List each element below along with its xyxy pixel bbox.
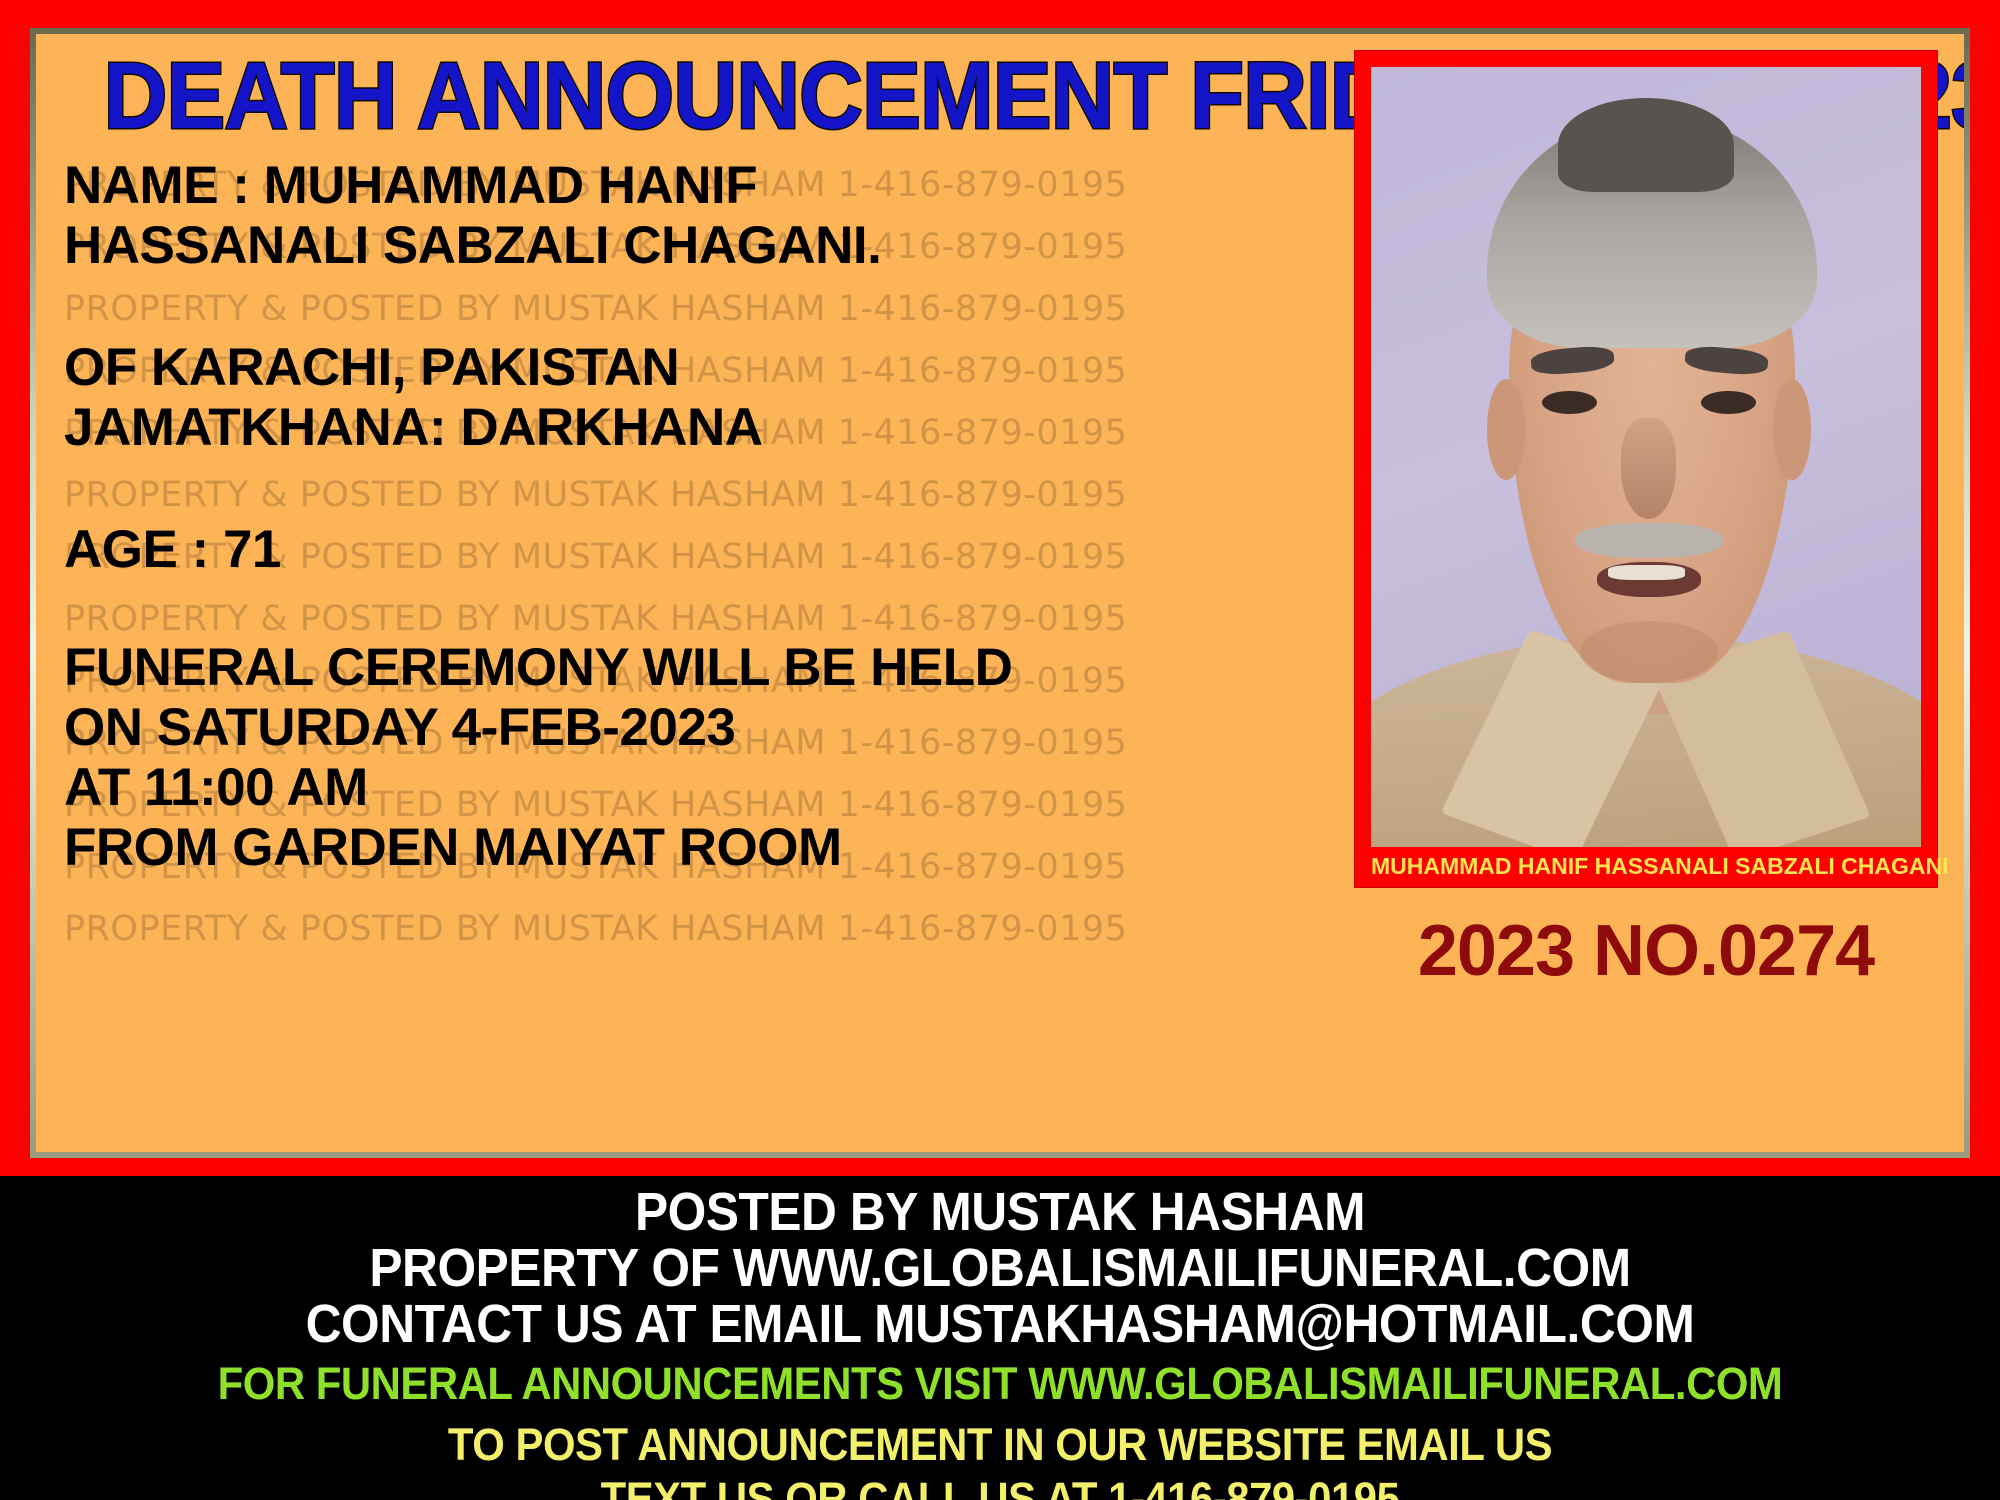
portrait-frame: MUHAMMAD HANIF HASSANALI SABZALI CHAGANI	[1354, 50, 1938, 888]
spacer	[64, 276, 1074, 338]
ceremony-line-4: FROM GARDEN MAIYAT ROOM	[64, 818, 1074, 878]
footer-post-announcement: TO POST ANNOUNCEMENT IN OUR WEBSITE EMAI…	[70, 1418, 1930, 1472]
poster-bevel-border: PROPERTY & POSTED BY MUSTAK HASHAM 1-416…	[30, 28, 1970, 1158]
origin-line: OF KARACHI, PAKISTAN	[64, 338, 1074, 398]
reference-number: 2023 NO.0274	[1354, 912, 1938, 990]
photo-ear-left	[1487, 379, 1526, 480]
photo-ear-right	[1773, 379, 1812, 480]
spacer	[64, 580, 1074, 638]
portrait-block: MUHAMMAD HANIF HASSANALI SABZALI CHAGANI…	[1354, 50, 1938, 990]
deceased-name-line-1: NAME : MUHAMMAD HANIF	[64, 156, 1074, 216]
footer-property-of: PROPERTY OF WWW.GLOBALISMAILIFUNERAL.COM	[80, 1240, 1920, 1296]
jamatkhana-line: JAMATKHANA: DARKHANA	[64, 398, 1074, 458]
footer-phone: TEXT US OR CALL US AT 1-416-879-0195	[70, 1472, 1930, 1500]
photo-eye-right	[1701, 391, 1756, 414]
portrait-photo	[1371, 67, 1921, 847]
ceremony-line-3: AT 11:00 AM	[64, 758, 1074, 818]
death-announcement-poster: PROPERTY & POSTED BY MUSTAK HASHAM 1-416…	[0, 0, 2000, 1500]
photo-eye-left	[1542, 391, 1597, 414]
footer-posted-by: POSTED BY MUSTAK HASHAM	[80, 1184, 1920, 1240]
photo-hair-crown	[1558, 98, 1734, 192]
spacer	[64, 458, 1074, 520]
footer-contact-email: CONTACT US AT EMAIL MUSTAKHASHAM@HOTMAIL…	[80, 1296, 1920, 1352]
poster-red-frame: PROPERTY & POSTED BY MUSTAK HASHAM 1-416…	[0, 0, 2000, 1176]
age-line: AGE : 71	[64, 520, 1074, 580]
announcement-details: NAME : MUHAMMAD HANIF HASSANALI SABZALI …	[64, 156, 1074, 878]
portrait-caption: MUHAMMAD HANIF HASSANALI SABZALI CHAGANI	[1371, 847, 1921, 887]
poster-card: PROPERTY & POSTED BY MUSTAK HASHAM 1-416…	[36, 34, 1964, 1152]
photo-mustache	[1575, 523, 1724, 558]
photo-chin	[1580, 621, 1718, 683]
ceremony-line-2: ON SATURDAY 4-FEB-2023	[64, 698, 1074, 758]
photo-teeth	[1608, 565, 1685, 581]
footer-website-visit: FOR FUNERAL ANNOUNCEMENTS VISIT WWW.GLOB…	[70, 1356, 1930, 1412]
poster-footer: POSTED BY MUSTAK HASHAM PROPERTY OF WWW.…	[0, 1176, 2000, 1500]
ceremony-line-1: FUNERAL CEREMONY WILL BE HELD	[64, 638, 1074, 698]
deceased-name-line-2: HASSANALI SABZALI CHAGANI.	[64, 216, 1074, 276]
